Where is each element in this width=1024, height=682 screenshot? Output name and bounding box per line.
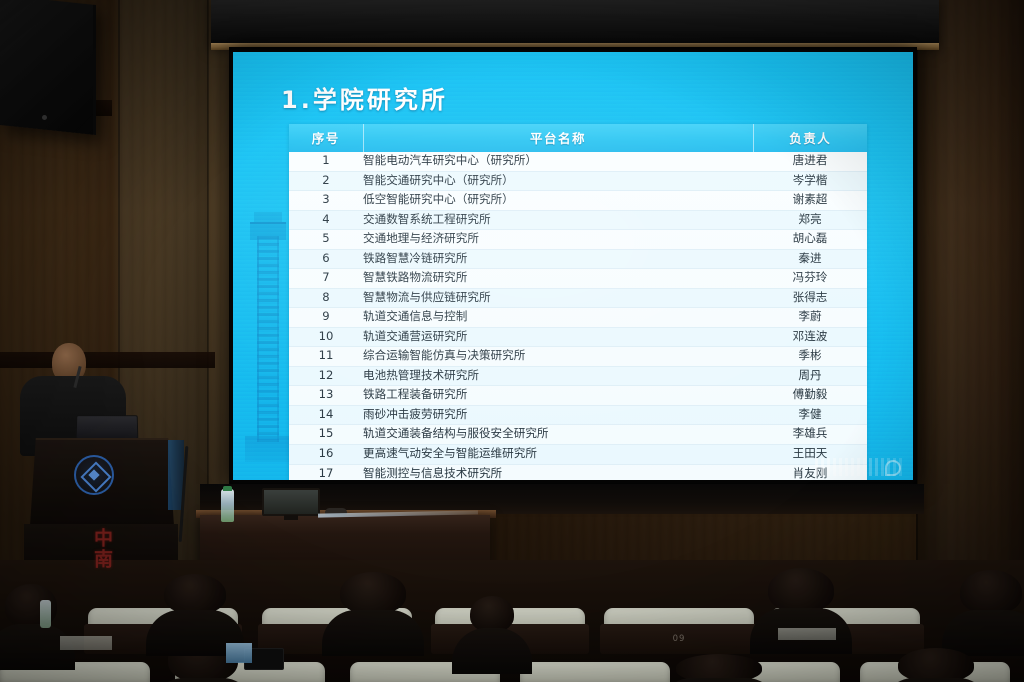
- cell-owner: 郑亮: [753, 210, 867, 230]
- cell-owner: 李蔚: [753, 308, 867, 328]
- cell-index: 3: [289, 191, 363, 211]
- table-row: 4交通数智系统工程研究所郑亮: [289, 210, 867, 230]
- cell-platform-name: 铁路智慧冷链研究所: [363, 249, 753, 269]
- cell-platform-name: 智慧物流与供应链研究所: [363, 288, 753, 308]
- cell-index: 7: [289, 269, 363, 289]
- cell-owner: 季彬: [753, 347, 867, 367]
- table-row: 3低空智能研究中心（研究所）谢素超: [289, 191, 867, 211]
- cell-index: 11: [289, 347, 363, 367]
- water-bottle: [221, 489, 234, 522]
- cell-platform-name: 智慧铁路物流研究所: [363, 269, 753, 289]
- table-body: 1智能电动汽车研究中心（研究所）唐进君2智能交通研究中心（研究所）岑学楷3低空智…: [289, 152, 867, 480]
- cell-owner: 唐进君: [753, 152, 867, 171]
- cell-owner: 邓连波: [753, 327, 867, 347]
- podium-laptop: [76, 415, 139, 439]
- cell-platform-name: 交通数智系统工程研究所: [363, 210, 753, 230]
- table-row: 1智能电动汽车研究中心（研究所）唐进君: [289, 152, 867, 171]
- cell-index: 13: [289, 386, 363, 406]
- table-header-row: 序号 平台名称 负责人: [289, 124, 867, 152]
- cell-owner: 李健: [753, 405, 867, 425]
- cell-owner: 张得志: [753, 288, 867, 308]
- column-header-index: 序号: [289, 124, 363, 152]
- cell-platform-name: 智能测控与信息技术研究所: [363, 464, 753, 480]
- cell-index: 12: [289, 366, 363, 386]
- cell-index: 17: [289, 464, 363, 480]
- cell-platform-name: 电池热管理技术研究所: [363, 366, 753, 386]
- audience-member-head: [164, 574, 226, 614]
- audience-papers-2: [778, 628, 836, 640]
- desk-monitor-stand: [284, 515, 298, 520]
- institutes-table-wrapper: 序号 平台名称 负责人 1智能电动汽车研究中心（研究所）唐进君2智能交通研究中心…: [289, 124, 867, 480]
- cell-index: 10: [289, 327, 363, 347]
- table-row: 11综合运输智能仿真与决策研究所季彬: [289, 347, 867, 367]
- table-row: 15轨道交通装备结构与服役安全研究所李雄兵: [289, 425, 867, 445]
- cell-index: 2: [289, 171, 363, 191]
- cell-index: 5: [289, 230, 363, 250]
- podium-inscription: 中南: [92, 528, 111, 570]
- cell-index: 1: [289, 152, 363, 171]
- audience-papers: [60, 636, 112, 650]
- table-row: 10轨道交通营运研究所邓连波: [289, 327, 867, 347]
- cell-owner: 李雄兵: [753, 425, 867, 445]
- cell-owner: 傅勤毅: [753, 386, 867, 406]
- table-row: 5交通地理与经济研究所胡心磊: [289, 230, 867, 250]
- cell-platform-name: 综合运输智能仿真与决策研究所: [363, 347, 753, 367]
- cell-platform-name: 轨道交通信息与控制: [363, 308, 753, 328]
- projection-screen-frame: 1.学院研究所 序号 平台名称 负责人 1智能电动汽车研究中心（研究所）唐进君2…: [229, 47, 917, 484]
- cell-owner: 胡心磊: [753, 230, 867, 250]
- chair-cushion: [520, 662, 670, 682]
- slide-title: 1.学院研究所: [281, 80, 448, 115]
- cell-index: 9: [289, 308, 363, 328]
- column-header-owner: 负责人: [753, 124, 867, 152]
- table-row: 6铁路智慧冷链研究所秦进: [289, 249, 867, 269]
- presentation-slide: 1.学院研究所 序号 平台名称 负责人 1智能电动汽车研究中心（研究所）唐进君2…: [233, 52, 913, 480]
- audience-member-head: [960, 570, 1022, 614]
- tower-watermark-icon: [245, 212, 293, 462]
- screenshot-stage: 1.学院研究所 序号 平台名称 负责人 1智能电动汽车研究中心（研究所）唐进君2…: [0, 0, 1024, 682]
- university-emblem-icon: [74, 455, 114, 495]
- cell-platform-name: 交通地理与经济研究所: [363, 230, 753, 250]
- audience-member-head: [470, 596, 514, 632]
- cell-platform-name: 智能电动汽车研究中心（研究所）: [363, 152, 753, 171]
- audience-member-shoulders: [322, 610, 424, 656]
- audience-member-shoulders: [942, 610, 1024, 656]
- slide-footer-mark-icon: [885, 460, 901, 476]
- audience-water-bottle: [40, 600, 51, 628]
- wall-speaker-icon: [0, 0, 96, 135]
- cell-platform-name: 轨道交通营运研究所: [363, 327, 753, 347]
- cell-index: 8: [289, 288, 363, 308]
- table-row: 16更高速气动安全与智能运维研究所王田天: [289, 444, 867, 464]
- cell-owner: 冯芬玲: [753, 269, 867, 289]
- cell-platform-name: 铁路工程装备研究所: [363, 386, 753, 406]
- cell-owner: 周丹: [753, 366, 867, 386]
- cell-index: 6: [289, 249, 363, 269]
- table-row: 7智慧铁路物流研究所冯芬玲: [289, 269, 867, 289]
- cell-owner: 岑学楷: [753, 171, 867, 191]
- table-row: 9轨道交通信息与控制李蔚: [289, 308, 867, 328]
- table-row: 13铁路工程装备研究所傅勤毅: [289, 386, 867, 406]
- cell-platform-name: 雨砂冲击疲劳研究所: [363, 405, 753, 425]
- seat-number: 09: [600, 634, 758, 644]
- cell-platform-name: 更高速气动安全与智能运维研究所: [363, 444, 753, 464]
- desk-monitor: [262, 488, 320, 516]
- cell-platform-name: 低空智能研究中心（研究所）: [363, 191, 753, 211]
- water-bottle-cap: [223, 486, 232, 491]
- institutes-table: 序号 平台名称 负责人 1智能电动汽车研究中心（研究所）唐进君2智能交通研究中心…: [289, 124, 867, 480]
- attendee-phone-screen: [226, 643, 252, 663]
- audience-member-head: [768, 568, 834, 612]
- cell-index: 15: [289, 425, 363, 445]
- cell-platform-name: 轨道交通装备结构与服役安全研究所: [363, 425, 753, 445]
- cell-owner: 秦进: [753, 249, 867, 269]
- column-header-name: 平台名称: [363, 124, 753, 152]
- table-row: 8智慧物流与供应链研究所张得志: [289, 288, 867, 308]
- cell-index: 16: [289, 444, 363, 464]
- speaker-led-icon: [42, 115, 47, 120]
- table-row: 2智能交通研究中心（研究所）岑学楷: [289, 171, 867, 191]
- cell-owner: 谢素超: [753, 191, 867, 211]
- table-row: 17智能测控与信息技术研究所肖友刚: [289, 464, 867, 480]
- table-row: 12电池热管理技术研究所周丹: [289, 366, 867, 386]
- table-row: 14雨砂冲击疲劳研究所李健: [289, 405, 867, 425]
- screen-valance: [211, 0, 939, 46]
- cell-platform-name: 智能交通研究中心（研究所）: [363, 171, 753, 191]
- cell-index: 4: [289, 210, 363, 230]
- audience-member-head: [340, 572, 406, 614]
- audience-member-head: [898, 648, 974, 682]
- cell-index: 14: [289, 405, 363, 425]
